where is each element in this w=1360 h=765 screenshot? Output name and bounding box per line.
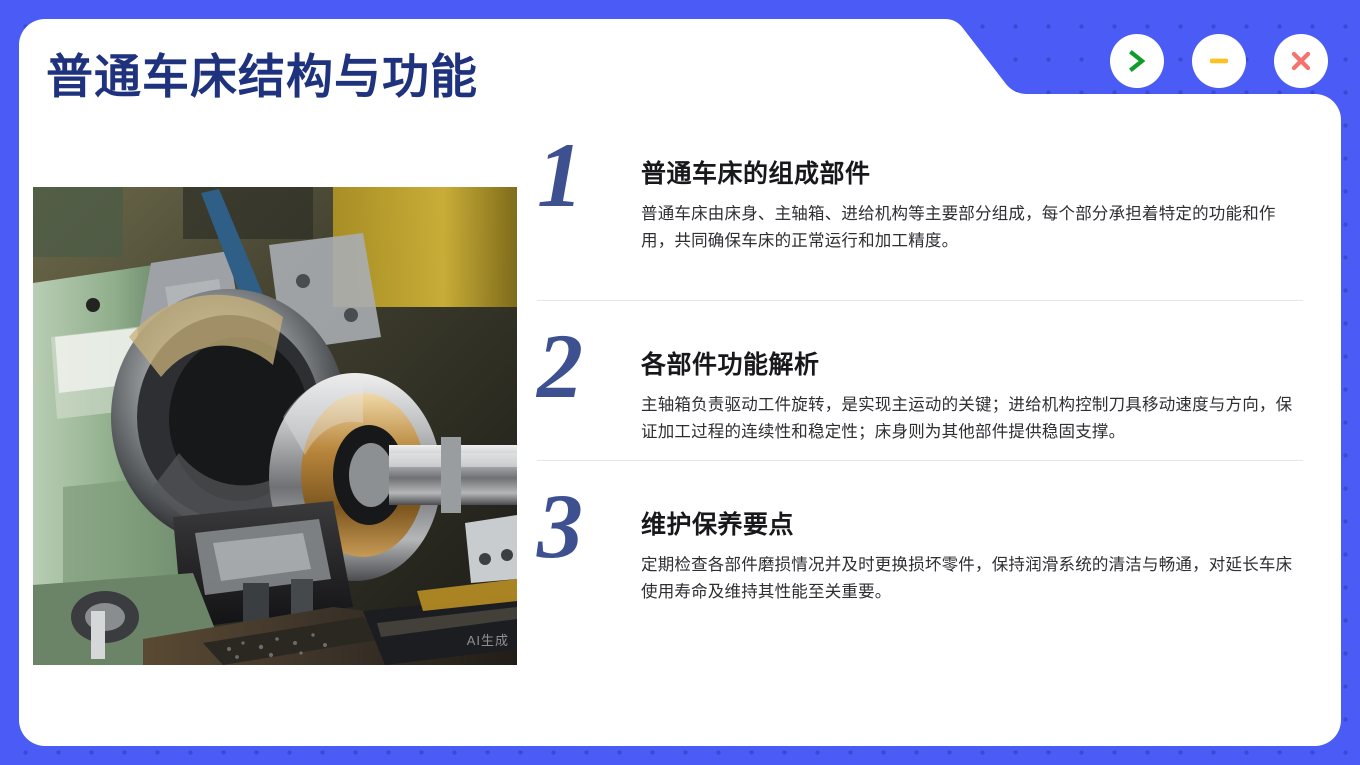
section-body: 维护保养要点 定期检查各部件磨损情况并及时更换损坏零件，保持润滑系统的清洁与畅通… xyxy=(641,495,1303,605)
page-title: 普通车床结构与功能 xyxy=(46,38,478,107)
section-description: 普通车床由床身、主轴箱、进给机构等主要部分组成，每个部分承担着特定的功能和作用，… xyxy=(641,201,1303,254)
section-description: 主轴箱负责驱动工件旋转，是实现主运动的关键；进给机构控制刀具移动速度与方向，保证… xyxy=(641,392,1303,445)
lathe-photo: AI生成 xyxy=(33,187,517,665)
section-title: 各部件功能解析 xyxy=(641,345,1303,381)
section-item-3: 3 维护保养要点 定期检查各部件磨损情况并及时更换损坏零件，保持润滑系统的清洁与… xyxy=(537,460,1303,620)
section-title: 维护保养要点 xyxy=(641,505,1303,541)
section-number: 3 xyxy=(537,483,641,570)
close-button[interactable] xyxy=(1274,34,1328,88)
window-controls xyxy=(1110,34,1328,88)
section-item-1: 1 普通车床的组成部件 普通车床由床身、主轴箱、进给机构等主要部分组成，每个部分… xyxy=(537,140,1303,300)
section-number: 1 xyxy=(537,132,641,219)
section-title: 普通车床的组成部件 xyxy=(641,154,1303,190)
section-body: 各部件功能解析 主轴箱负责驱动工件旋转，是实现主运动的关键；进给机构控制刀具移动… xyxy=(641,335,1303,445)
section-item-2: 2 各部件功能解析 主轴箱负责驱动工件旋转，是实现主运动的关键；进给机构控制刀具… xyxy=(537,300,1303,460)
minus-icon xyxy=(1205,47,1233,75)
section-list: 1 普通车床的组成部件 普通车床由床身、主轴箱、进给机构等主要部分组成，每个部分… xyxy=(537,140,1303,620)
slide-root: 普通车床结构与功能 xyxy=(0,0,1360,765)
minimize-button[interactable] xyxy=(1192,34,1246,88)
section-description: 定期检查各部件磨损情况并及时更换损坏零件，保持润滑系统的清洁与畅通，对延长车床使… xyxy=(641,552,1303,605)
lathe-photo-graphic xyxy=(33,187,517,665)
section-number: 2 xyxy=(537,323,641,410)
close-icon xyxy=(1286,46,1316,76)
section-body: 普通车床的组成部件 普通车床由床身、主轴箱、进给机构等主要部分组成，每个部分承担… xyxy=(641,144,1303,254)
chevron-right-icon xyxy=(1123,47,1151,75)
next-button[interactable] xyxy=(1110,34,1164,88)
